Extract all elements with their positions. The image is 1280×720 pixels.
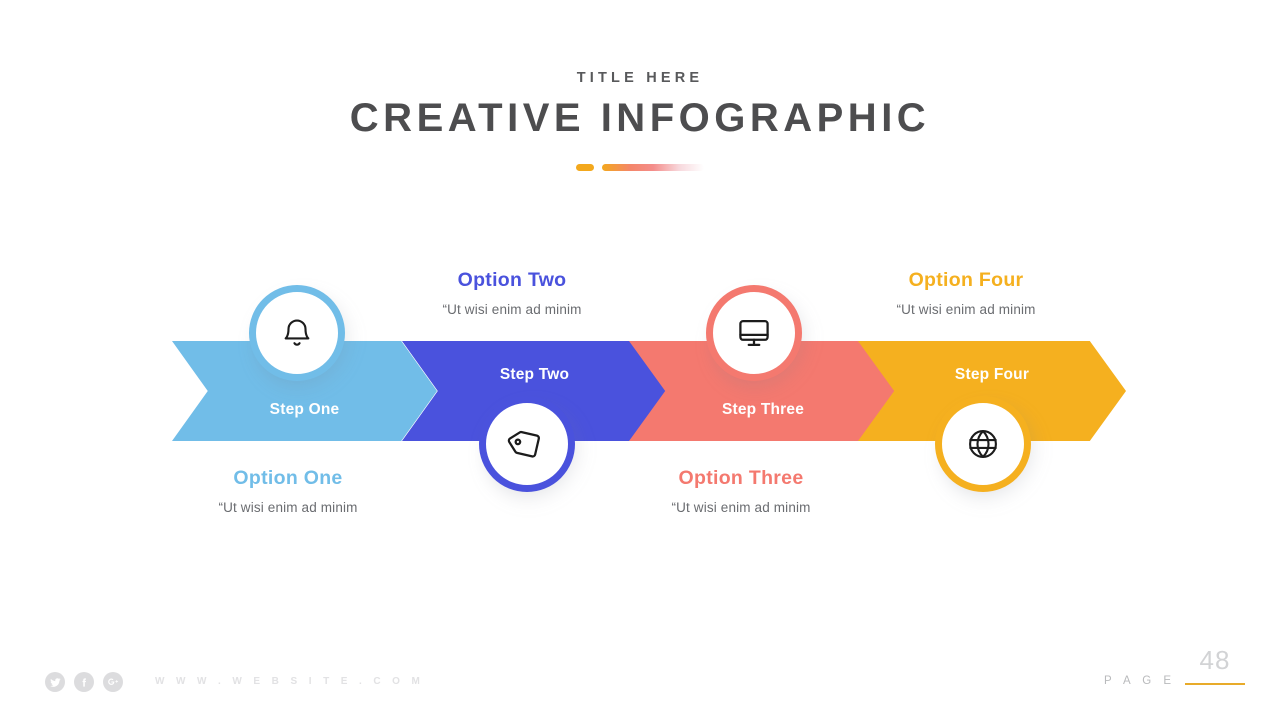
google-plus-icon[interactable] xyxy=(103,672,123,692)
twitter-icon[interactable] xyxy=(45,672,65,692)
slide-footer: W W W . W E B S I T E . C O M P A G E 48 xyxy=(0,0,1280,720)
website-url: W W W . W E B S I T E . C O M xyxy=(155,676,424,687)
page-label: P A G E xyxy=(1104,675,1176,687)
page-number: 48 xyxy=(1185,645,1245,676)
page-underline xyxy=(1185,683,1245,685)
facebook-icon[interactable] xyxy=(74,672,94,692)
